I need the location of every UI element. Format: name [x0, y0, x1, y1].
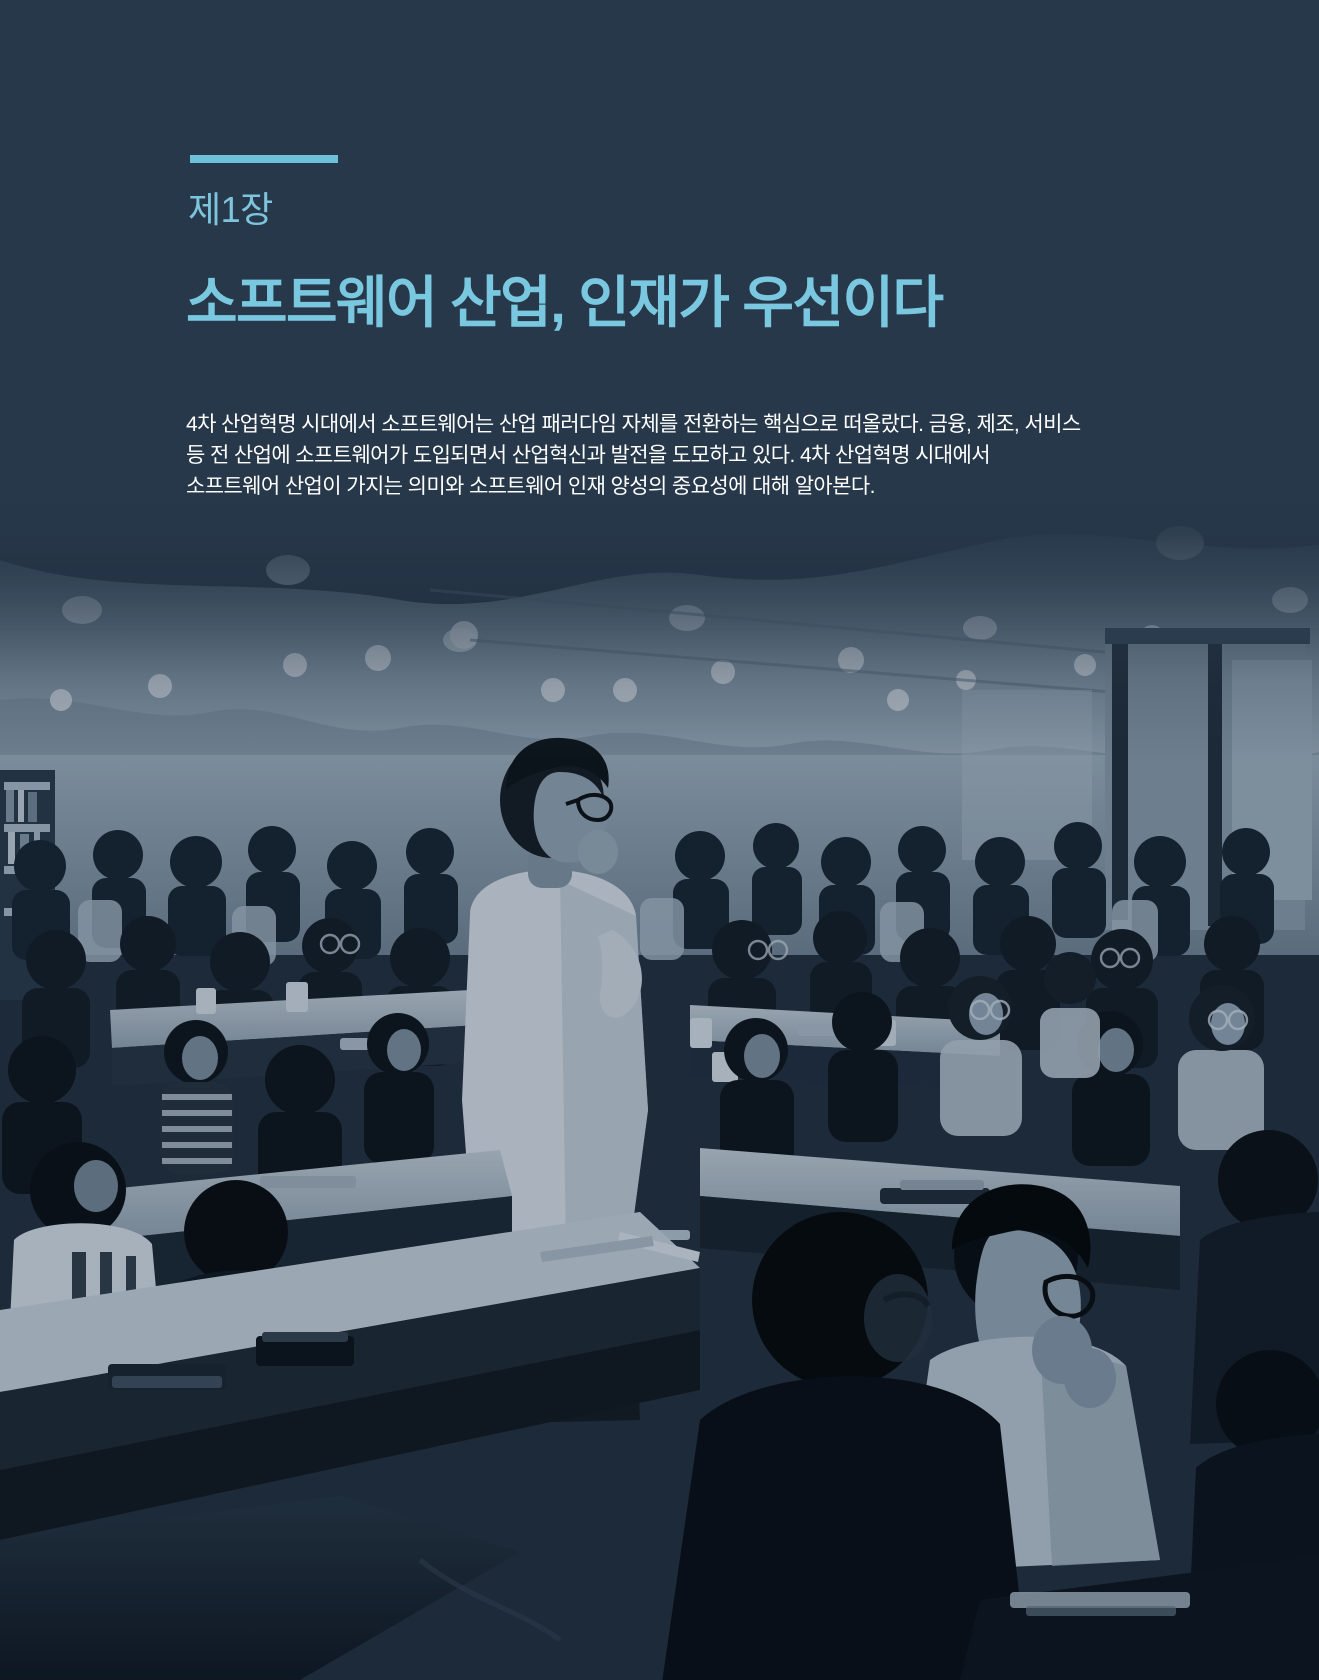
accent-rule [190, 155, 338, 163]
chapter-title: 소프트웨어 산업, 인재가 우선이다 [186, 270, 943, 336]
chapter-opening-page: 제1장 소프트웨어 산업, 인재가 우선이다 4차 산업혁명 시대에서 소프트웨… [0, 0, 1319, 1680]
classroom-photo [0, 0, 1319, 1680]
chapter-number-label: 제1장 [188, 188, 273, 232]
chapter-intro-paragraph: 4차 산업혁명 시대에서 소프트웨어는 산업 패러다임 자체를 전환하는 핵심으… [186, 409, 1086, 502]
